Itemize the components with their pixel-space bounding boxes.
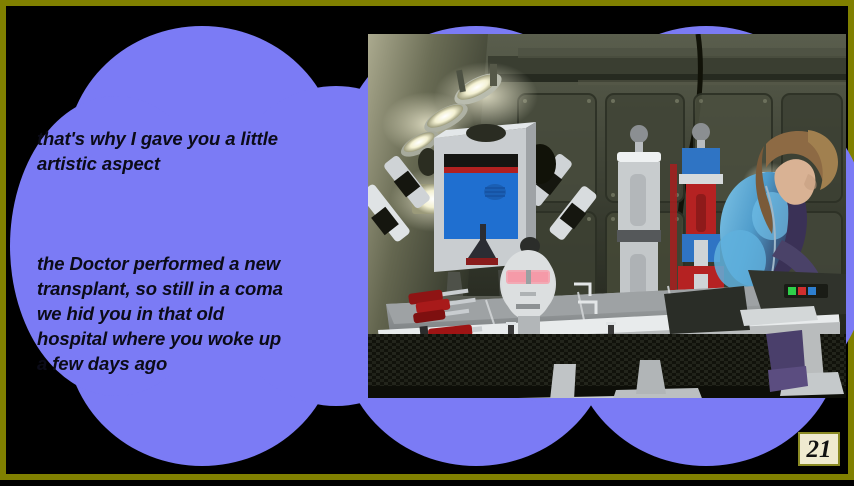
dialogue-paragraph-2: the Doctor performed a new transplant, s… <box>37 251 363 376</box>
dialogue-text-block: that's why I gave you a little artistic … <box>37 76 363 426</box>
dialogue-paragraph-1: that's why I gave you a little artistic … <box>37 126 363 176</box>
comic-page: that's why I gave you a little artistic … <box>0 0 854 480</box>
scene-image-panel <box>368 34 846 398</box>
page-number-value: 21 <box>807 437 832 462</box>
instrument-tray <box>664 286 750 334</box>
page-number-badge: 21 <box>798 432 840 466</box>
scene-illustration <box>368 34 846 398</box>
